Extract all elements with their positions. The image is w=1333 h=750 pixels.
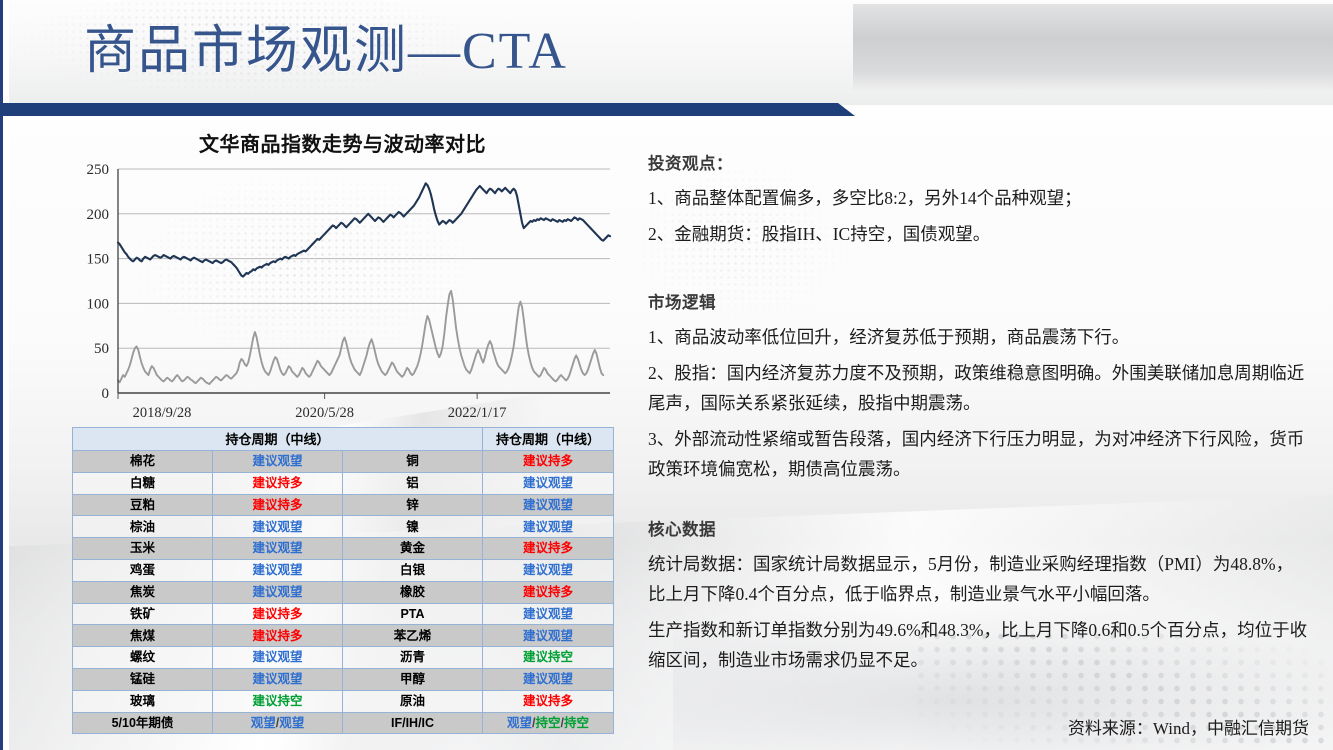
signal-right: 建议持空	[483, 647, 614, 669]
signal-left: 建议持多	[213, 625, 343, 647]
table-row: 豆粕建议持多锌建议观望	[73, 494, 614, 516]
signal-token: 建议观望	[523, 607, 573, 621]
product-name-right: 沥青	[343, 647, 483, 669]
signal-right: 观望/持空/持空	[483, 712, 614, 734]
product-name-right: 铜	[343, 451, 483, 473]
product-name-left: 螺纹	[73, 647, 213, 669]
position-signal-table: 持仓周期（中线） 持仓周期（中线） 棉花建议观望铜建议持多白糖建议持多铝建议观望…	[72, 427, 613, 734]
product-name-right: 橡胶	[343, 581, 483, 603]
chart-x-axis-labels: 2018/9/282020/5/282022/1/17	[118, 393, 507, 421]
signal-token: 持空	[564, 716, 589, 730]
section-heading-market-logic: 市场逻辑	[648, 289, 1308, 313]
signal-left: 建议观望	[213, 538, 343, 560]
signal-token: 建议观望	[252, 520, 302, 534]
signal-token: 观望	[507, 716, 532, 730]
market-logic-point-3: 3、外部流动性紧缩或暂告段落，国内经济下行压力明显，为对冲经济下行风险，货币政策…	[648, 424, 1308, 484]
slide-canvas: 商品市场观测—CTA 文华商品指数走势与波动率对比 05010015020025…	[0, 0, 1333, 750]
signal-left: 建议持多	[213, 494, 343, 516]
product-name-right: 镍	[343, 516, 483, 538]
product-name-left: 白糖	[73, 472, 213, 494]
signal-left: 建议观望	[213, 647, 343, 669]
section-heading-investment-view: 投资观点：	[648, 150, 1308, 174]
core-data-paragraph-2: 生产指数和新订单指数分别为49.6%和48.3%，比上月下降0.6和0.5个百分…	[648, 615, 1308, 675]
product-name-right: 苯乙烯	[343, 625, 483, 647]
signal-right: 建议观望	[483, 494, 614, 516]
table-row: 白糖建议持多铝建议观望	[73, 472, 614, 494]
product-name-right: 白银	[343, 559, 483, 581]
signal-right: 建议观望	[483, 603, 614, 625]
y-tick-label: 200	[87, 207, 110, 223]
signal-left: 建议持空	[213, 690, 343, 712]
signal-token: 建议持多	[523, 694, 573, 708]
product-name-left: 5/10年期债	[73, 712, 213, 734]
commentary-panel: 投资观点： 1、商品整体配置偏多，多空比8:2，另外14个品种观望； 2、金融期…	[648, 150, 1308, 681]
header-accent-rule	[0, 103, 855, 116]
chart-y-axis-labels: 050100150200250	[87, 162, 110, 402]
product-name-left: 豆粕	[73, 494, 213, 516]
product-name-left: 玉米	[73, 538, 213, 560]
signal-token: 建议观望	[252, 563, 302, 577]
signal-token: 建议观望	[523, 629, 573, 643]
signal-token: 建议观望	[252, 541, 302, 555]
signal-left: 建议观望	[213, 581, 343, 603]
signal-right: 建议持多	[483, 581, 614, 603]
series-波动率	[118, 291, 603, 384]
signal-right: 建议观望	[483, 559, 614, 581]
signal-left: 建议持多	[213, 603, 343, 625]
commodity-index-chart: 文华商品指数走势与波动率对比 050100150200250 2018/9/28…	[70, 128, 615, 418]
signal-right: 建议持多	[483, 451, 614, 473]
signal-token: 建议持多	[523, 454, 573, 468]
page-title: 商品市场观测—CTA	[84, 26, 568, 78]
investment-view-point-1: 1、商品整体配置偏多，多空比8:2，另外14个品种观望；	[648, 183, 1308, 213]
table-row: 鸡蛋建议观望白银建议观望	[73, 559, 614, 581]
product-name-right: 黄金	[343, 538, 483, 560]
y-tick-label: 150	[87, 252, 110, 268]
table-row: 螺纹建议观望沥青建议持空	[73, 647, 614, 669]
table-row: 棕油建议观望镍建议观望	[73, 516, 614, 538]
signal-token: 建议观望	[252, 672, 302, 686]
x-tick-label: 2018/9/28	[133, 405, 192, 421]
left-edge-stripe	[0, 0, 9, 750]
signal-right: 建议观望	[483, 516, 614, 538]
signal-token: 建议观望	[252, 650, 302, 664]
signal-token: 建议观望	[523, 563, 573, 577]
signal-left: 建议持多	[213, 472, 343, 494]
signal-right: 建议持多	[483, 538, 614, 560]
signal-right: 建议观望	[483, 625, 614, 647]
table-header-row: 持仓周期（中线） 持仓周期（中线）	[73, 428, 614, 451]
spacer-1	[648, 255, 1308, 289]
product-name-left: 棕油	[73, 516, 213, 538]
signal-token: 建议观望	[523, 476, 573, 490]
chart-plot-area: 050100150200250 2018/9/282020/5/282022/1…	[70, 161, 615, 429]
signal-token: 建议持空	[523, 650, 573, 664]
table-row: 5/10年期债观望/观望IF/IH/IC观望/持空/持空	[73, 712, 614, 734]
product-name-right: 原油	[343, 690, 483, 712]
table-row: 玻璃建议持空原油建议持多	[73, 690, 614, 712]
signal-token: 观望	[279, 716, 304, 730]
signal-token: 建议持多	[252, 498, 302, 512]
section-heading-core-data: 核心数据	[648, 516, 1308, 540]
table-row: 棉花建议观望铜建议持多	[73, 451, 614, 473]
product-name-right: PTA	[343, 603, 483, 625]
signal-token: 建议持空	[252, 694, 302, 708]
signal-token: 建议观望	[252, 454, 302, 468]
x-tick-label: 2020/5/28	[295, 405, 354, 421]
signal-token: 持空	[536, 716, 561, 730]
product-name-right: IF/IH/IC	[343, 712, 483, 734]
product-name-right: 铝	[343, 472, 483, 494]
left-edge-navy-block	[0, 103, 9, 116]
signal-token: 建议观望	[252, 585, 302, 599]
signal-right: 建议持多	[483, 690, 614, 712]
table-header-left: 持仓周期（中线）	[73, 428, 483, 451]
product-name-left: 鸡蛋	[73, 559, 213, 581]
product-name-left: 玻璃	[73, 690, 213, 712]
signal-token: 建议观望	[523, 672, 573, 686]
product-name-left: 锰硅	[73, 668, 213, 690]
source-note: 资料来源：Wind，中融汇信期货	[1068, 714, 1309, 739]
y-tick-label: 50	[94, 341, 109, 357]
header-gray-band	[853, 4, 1333, 90]
table-row: 焦煤建议持多苯乙烯建议观望	[73, 625, 614, 647]
signal-token: 建议持多	[252, 607, 302, 621]
y-tick-label: 100	[87, 296, 110, 312]
product-name-left: 铁矿	[73, 603, 213, 625]
investment-view-point-2: 2、金融期货：股指IH、IC持空，国债观望。	[648, 219, 1308, 249]
signal-right: 建议观望	[483, 472, 614, 494]
slide-header: 商品市场观测—CTA	[0, 0, 1333, 105]
core-data-paragraph-1: 统计局数据：国家统计局数据显示，5月份，制造业采购经理指数（PMI）为48.8%…	[648, 549, 1308, 609]
product-name-right: 锌	[343, 494, 483, 516]
product-name-left: 焦煤	[73, 625, 213, 647]
market-logic-point-1: 1、商品波动率低位回升，经济复苏低于预期，商品震荡下行。	[648, 322, 1308, 352]
signal-left: 观望/观望	[213, 712, 343, 734]
signal-right: 建议观望	[483, 668, 614, 690]
chart-axes	[118, 169, 610, 393]
product-name-right: 甲醇	[343, 668, 483, 690]
signal-token: 建议持多	[523, 541, 573, 555]
signal-left: 建议观望	[213, 668, 343, 690]
spacer-2	[648, 490, 1308, 516]
chart-title: 文华商品指数走势与波动率对比	[70, 128, 615, 157]
table-row: 铁矿建议持多PTA建议观望	[73, 603, 614, 625]
signal-token: 观望	[251, 716, 276, 730]
product-name-left: 棉花	[73, 451, 213, 473]
market-logic-point-2: 2、股指：国内经济复苏力度不及预期，政策维稳意图明确。外围美联储加息周期临近尾声…	[648, 358, 1308, 418]
table-row: 玉米建议观望黄金建议持多	[73, 538, 614, 560]
x-tick-label: 2022/1/17	[448, 405, 507, 421]
signal-token: 建议持多	[523, 585, 573, 599]
y-tick-label: 250	[87, 162, 110, 178]
signal-token: 建议持多	[252, 476, 302, 490]
signal-token: 建议观望	[523, 520, 573, 534]
signal-token: 建议观望	[523, 498, 573, 512]
product-name-left: 焦炭	[73, 581, 213, 603]
y-tick-label: 0	[102, 386, 110, 402]
table-body: 棉花建议观望铜建议持多白糖建议持多铝建议观望豆粕建议持多锌建议观望棕油建议观望镍…	[73, 451, 614, 734]
signal-left: 建议观望	[213, 559, 343, 581]
signal-token: 建议持多	[252, 629, 302, 643]
table-header-right: 持仓周期（中线）	[483, 428, 614, 451]
series-文华商品指数	[118, 183, 610, 276]
signal-left: 建议观望	[213, 516, 343, 538]
table-row: 锰硅建议观望甲醇建议观望	[73, 668, 614, 690]
signal-left: 建议观望	[213, 451, 343, 473]
table-row: 焦炭建议观望橡胶建议持多	[73, 581, 614, 603]
